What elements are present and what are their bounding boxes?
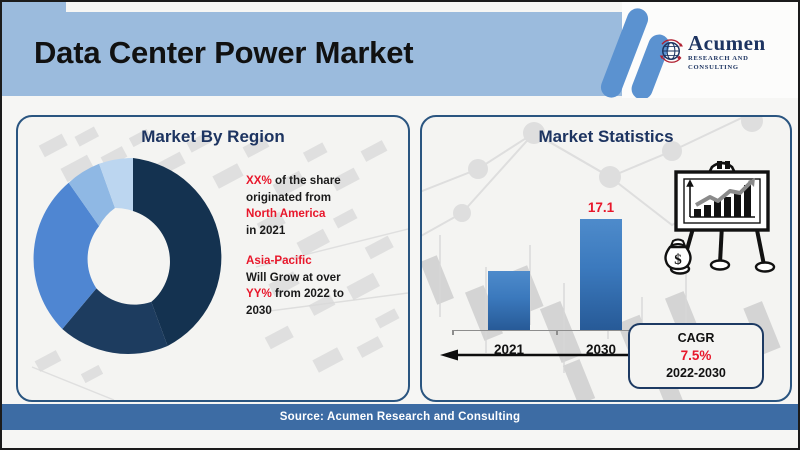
callout-cagr-value: YY% — [246, 287, 272, 300]
callout-share-rest: of the share — [272, 174, 341, 187]
easel-chart-money-bag-icon: $ — [660, 159, 778, 279]
bar-2030 — [580, 219, 622, 330]
callout-line-7: YY% from 2022 to — [246, 286, 398, 303]
cagr-arrow-icon — [440, 349, 630, 361]
callout-line-1: XX% of the share — [246, 173, 398, 190]
axis-tick-start — [452, 330, 454, 335]
cagr-callout-box: CAGR 7.5% 2022-2030 — [628, 323, 764, 389]
region-callout-text: XX% of the share originated from North A… — [246, 173, 398, 319]
callout-region-name: North America — [246, 206, 398, 223]
svg-text:$: $ — [674, 252, 682, 268]
header-left-notch — [2, 2, 66, 12]
cagr-value: 7.5% — [630, 347, 762, 365]
page-title: Data Center Power Market — [34, 35, 413, 71]
market-statistics-bar-chart: 17.1 2021 2030 — [444, 175, 654, 365]
callout-cagr-rest: from 2022 to — [272, 287, 344, 300]
bar-value-2030: 17.1 — [566, 200, 636, 215]
callout-line-4: in 2021 — [246, 223, 398, 240]
region-donut-chart — [30, 155, 236, 361]
infographic-page: Data Center Power Market Acumen RESEARCH… — [0, 0, 800, 450]
market-statistics-panel: Market Statistics 17.1 2021 2030 CAGR 7.… — [420, 115, 792, 402]
callout-line-6: Will Grow at over — [246, 270, 398, 287]
bar-chart-axis — [452, 330, 648, 332]
callout-share-value: XX% — [246, 174, 272, 187]
logo-tagline: RESEARCH AND CONSULTING — [688, 54, 796, 72]
bar-2021 — [488, 271, 530, 330]
footer-bar: Source: Acumen Research and Consulting — [2, 404, 798, 430]
page-header: Data Center Power Market Acumen RESEARCH… — [2, 2, 798, 98]
callout-spacer — [246, 239, 398, 253]
right-panel-title: Market Statistics — [422, 127, 790, 147]
cagr-label: CAGR — [630, 330, 762, 347]
market-by-region-panel: Market By Region XX% of the share origin… — [16, 115, 410, 402]
left-panel-title: Market By Region — [18, 127, 408, 147]
callout-growth-region: Asia-Pacific — [246, 253, 398, 270]
logo-brand: Acumen — [688, 32, 796, 54]
globe-icon — [656, 36, 686, 66]
axis-tick-mid — [556, 330, 558, 335]
cagr-range: 2022-2030 — [630, 365, 762, 382]
callout-line-2: originated from — [246, 190, 398, 207]
footer-source-text: Source: Acumen Research and Consulting — [280, 411, 520, 423]
acumen-logo: Acumen RESEARCH AND CONSULTING — [656, 32, 796, 74]
callout-line-8: 2030 — [246, 303, 398, 320]
logo-text-block: Acumen RESEARCH AND CONSULTING — [688, 32, 796, 72]
donut-svg — [30, 155, 236, 361]
